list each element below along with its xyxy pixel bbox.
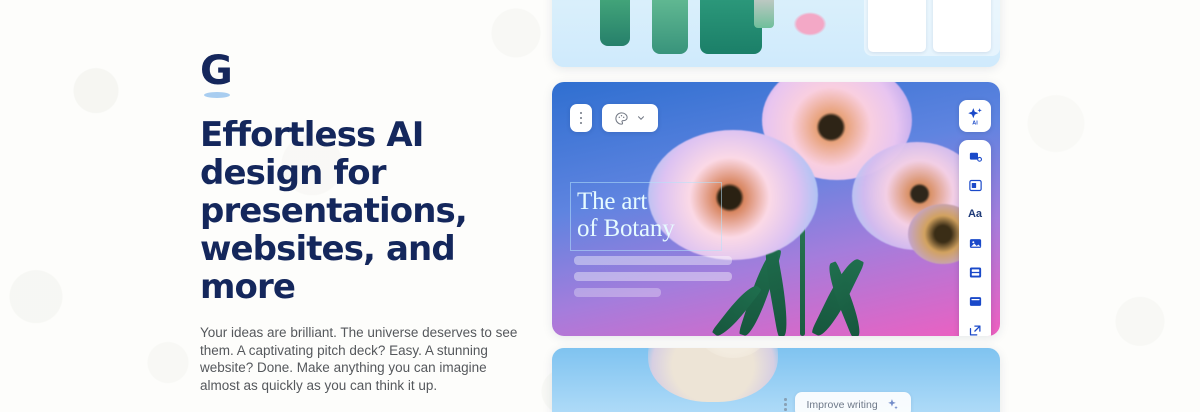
page-title: Effortless AI design for presentations, … <box>200 116 530 306</box>
placeholder-line <box>574 272 732 281</box>
toolbar-gallery-button[interactable] <box>967 264 983 280</box>
sky-artwork <box>552 348 1000 412</box>
placeholder-line <box>574 256 732 265</box>
chevron-down-icon <box>636 113 646 123</box>
drag-handle-icon[interactable] <box>784 398 787 411</box>
image-suggestion-thumb[interactable] <box>868 0 926 52</box>
landing-page: G Effortless AI design for presentations… <box>0 0 1200 412</box>
logo-letter: G <box>200 52 244 90</box>
toolbar-ai-button[interactable]: AI <box>959 100 991 132</box>
card-title-line-1: The art <box>577 188 715 215</box>
toolbar-image-button[interactable] <box>967 235 983 251</box>
hero-subtext: Your ideas are brilliant. The universe d… <box>200 324 525 394</box>
placeholder-line <box>574 288 661 297</box>
card-controls <box>570 104 658 132</box>
palette-icon <box>614 111 629 126</box>
improve-writing-control: Improve writing <box>784 392 911 412</box>
toolbar-template-button[interactable] <box>967 148 983 164</box>
cloud <box>648 348 778 402</box>
card-body-placeholder <box>574 256 732 304</box>
mushroom-stalk <box>652 0 688 54</box>
vertical-dots-icon <box>580 117 583 120</box>
more-options-button[interactable] <box>570 104 592 132</box>
gamma-logo[interactable]: G <box>200 52 244 100</box>
improve-writing-button[interactable]: Improve writing <box>795 392 911 412</box>
sparkle-icon <box>886 398 899 411</box>
image-suggestion-panel <box>864 0 1000 56</box>
preview-card-botany[interactable]: The art of Botany AI <box>552 82 1000 336</box>
sparkle-ai-icon: AI <box>965 106 985 126</box>
card-title-line-2: of Botany <box>577 215 715 242</box>
handle-dot <box>784 408 787 411</box>
preview-card-suggest-images[interactable]: Suggest images <box>552 0 1000 67</box>
theme-palette-button[interactable] <box>602 104 658 132</box>
hero-section: G Effortless AI design for presentations… <box>200 52 530 412</box>
handle-dot <box>784 398 787 401</box>
editor-toolbar: Aa <box>959 140 991 336</box>
improve-writing-label: Improve writing <box>807 399 878 411</box>
toolbar-embed-button[interactable] <box>967 322 983 336</box>
svg-text:AI: AI <box>972 120 978 126</box>
toolbar-card-button[interactable] <box>967 293 983 309</box>
vertical-dots-icon <box>580 112 583 115</box>
handle-dot <box>784 403 787 406</box>
preview-card-improve-writing[interactable]: Improve writing <box>552 348 1000 412</box>
mushroom-stalk <box>600 0 630 46</box>
logo-ellipse-icon <box>204 92 230 98</box>
toolbar-layout-button[interactable] <box>967 177 983 193</box>
mushroom-stem <box>754 0 774 28</box>
card-title-block[interactable]: The art of Botany <box>570 182 722 251</box>
image-suggestion-thumb[interactable] <box>933 0 991 52</box>
mushroom-stalk <box>700 0 762 54</box>
toolbar-text-button[interactable]: Aa <box>967 206 983 222</box>
vertical-dots-icon <box>580 122 583 125</box>
